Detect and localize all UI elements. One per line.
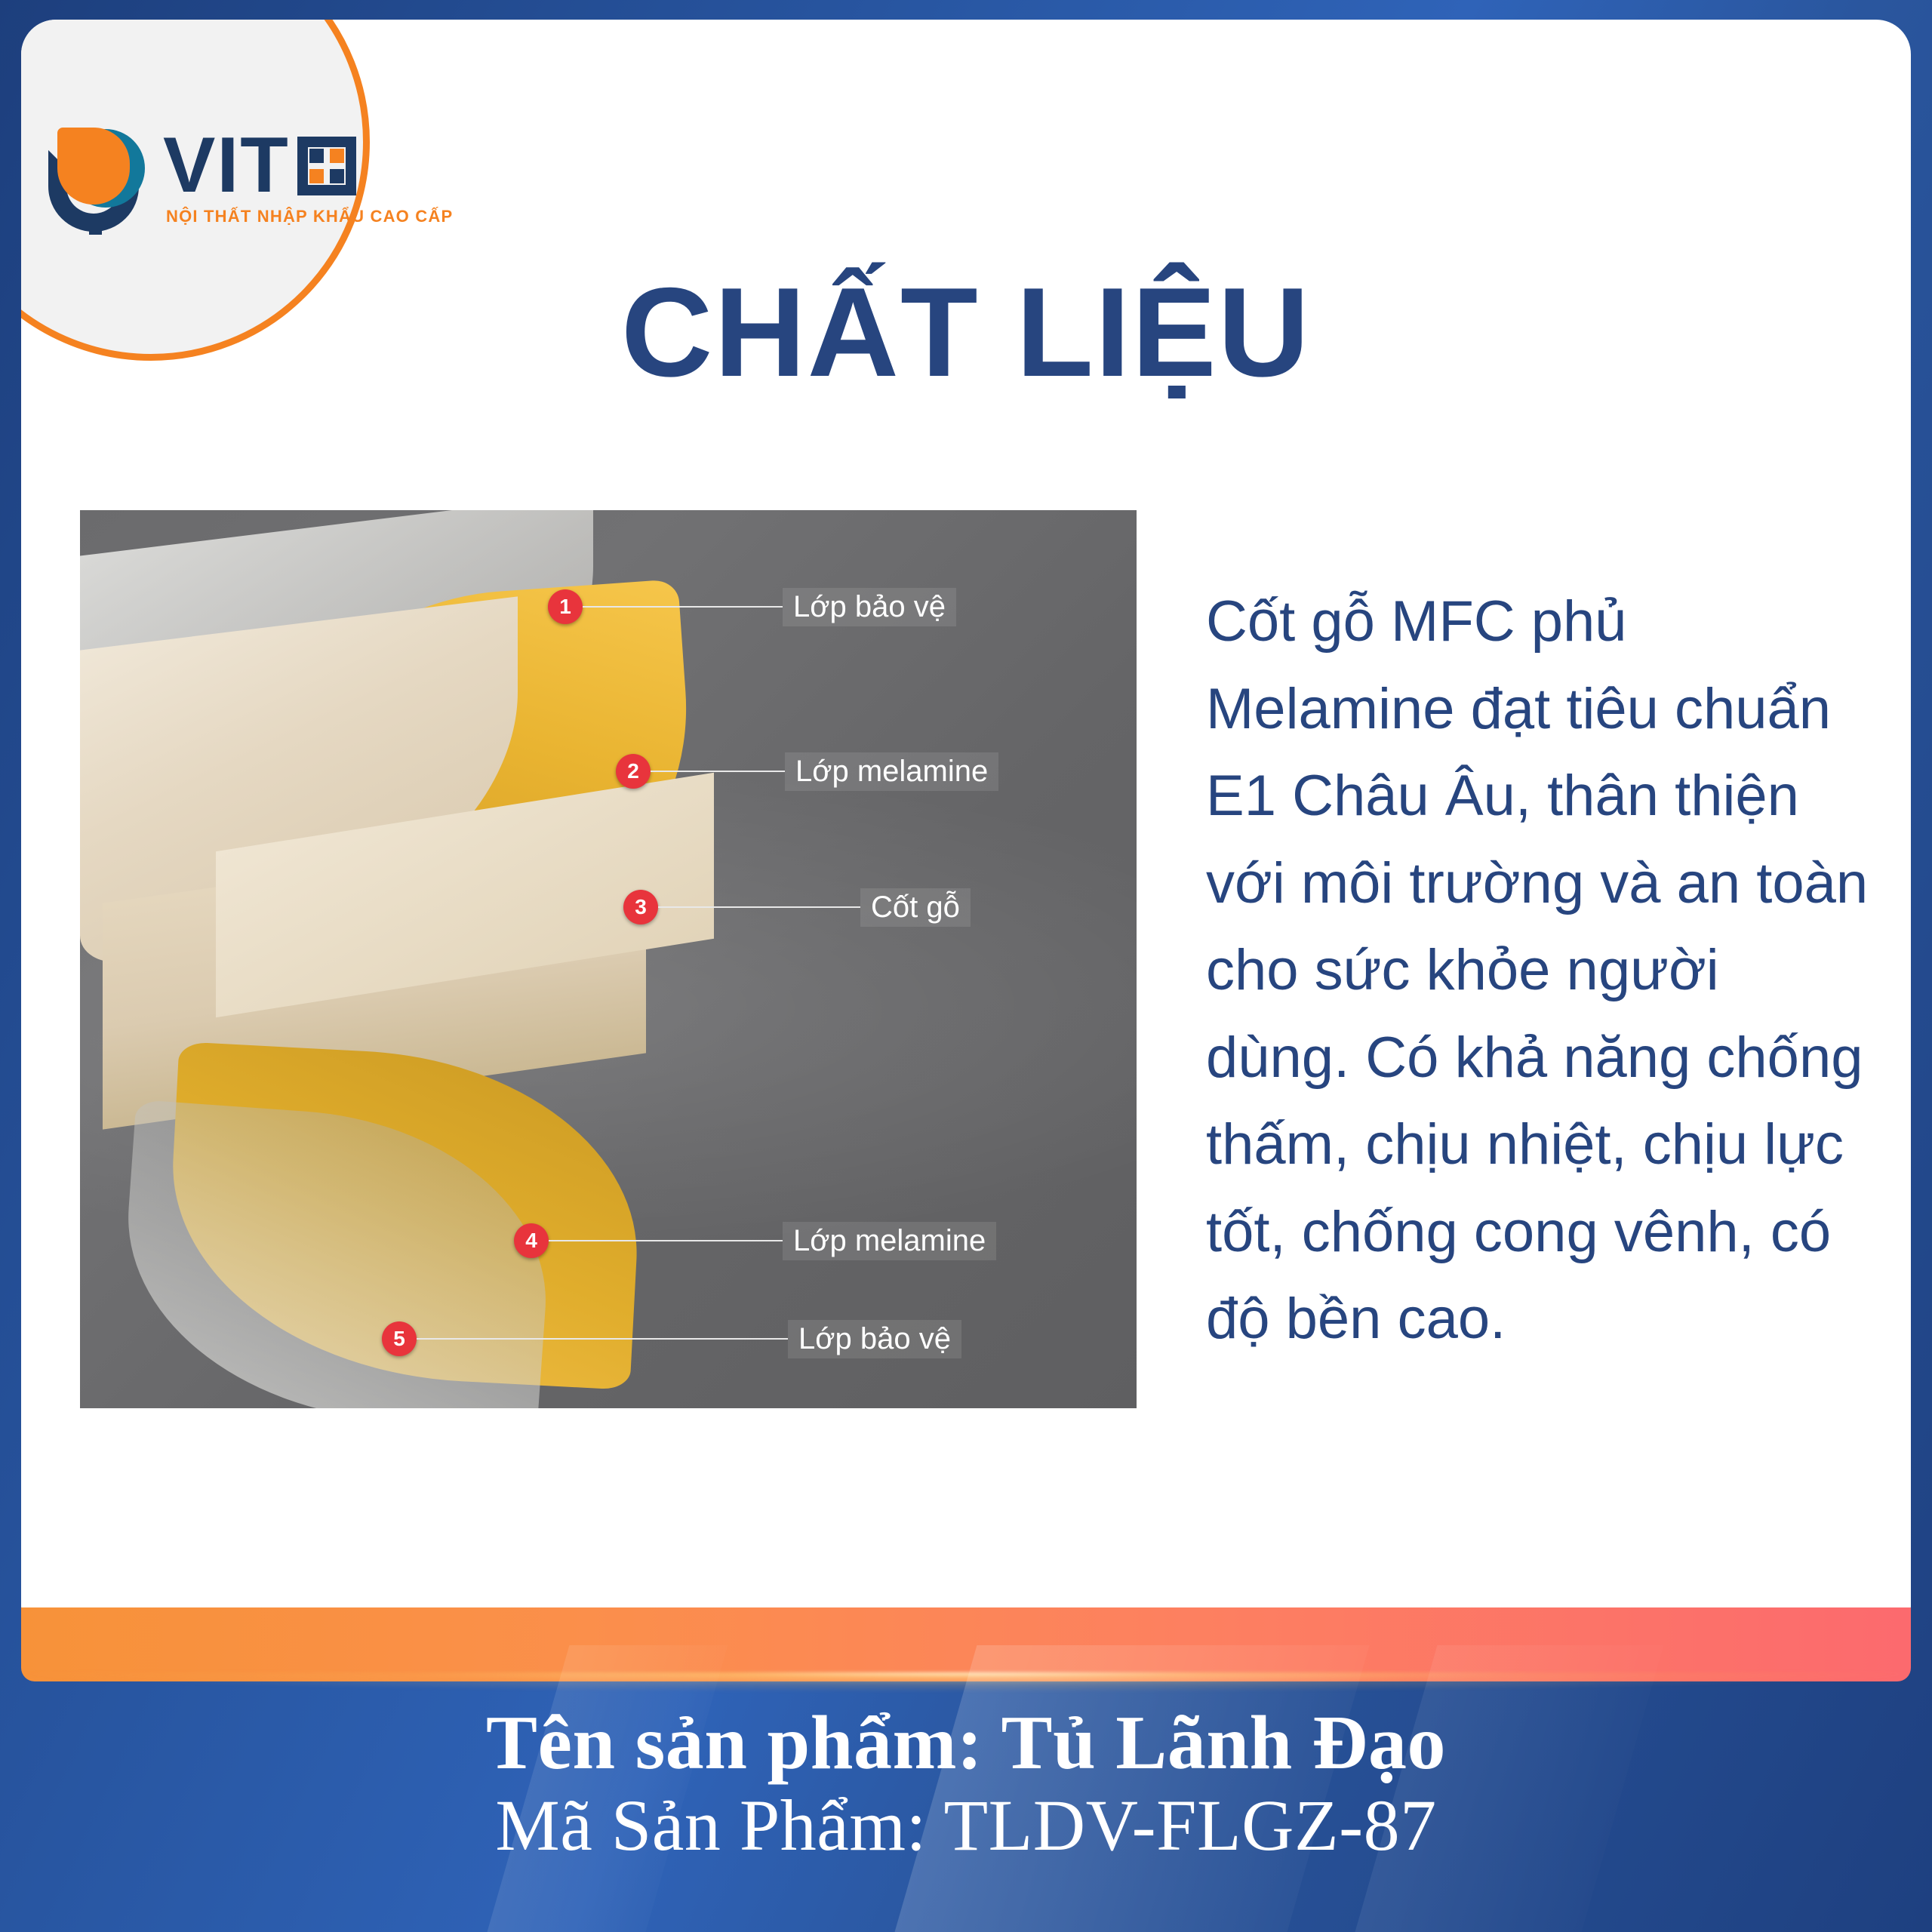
callout-label-3: Cốt gỗ (860, 888, 971, 927)
callout-2: 2 Lớp melamine (616, 750, 998, 792)
callout-leader-line-1 (583, 606, 783, 608)
callout-label-1: Lớp bảo vệ (783, 588, 956, 626)
brand-wordmark-letters: VIT (163, 130, 290, 202)
callout-number-2: 2 (616, 754, 651, 789)
callout-leader-line-3 (658, 906, 860, 908)
callout-number-5: 5 (382, 1321, 417, 1356)
callout-4: 4 Lớp melamine (514, 1220, 996, 1262)
brand-tagline: NỘI THẤT NHẬP KHẨU CAO CẤP (166, 207, 453, 226)
callout-number-1: 1 (548, 589, 583, 624)
callout-label-5: Lớp bảo vệ (788, 1320, 961, 1358)
callout-leader-line-2 (651, 771, 785, 772)
callout-number-4: 4 (514, 1223, 549, 1258)
product-name: Tên sản phẩm: Tủ Lãnh Đạo (0, 1702, 1932, 1785)
callout-label-2: Lớp melamine (785, 752, 998, 791)
gradient-divider (21, 1607, 1911, 1681)
product-code: Mã Sản Phẩm: TLDV-FLGZ-87 (0, 1785, 1932, 1866)
divider-glow (21, 1672, 1911, 1692)
material-layer-photo: 1 Lớp bảo vệ 2 Lớp melamine 3 Cốt gỗ 4 L… (80, 510, 1137, 1408)
vito-leaf-logo-icon (44, 123, 151, 233)
brand-wordmark-block: VIT NỘI THẤT NHẬP KHẨU CAO CẤP (163, 130, 453, 226)
material-description: Cốt gỗ MFC phủ Melamine đạt tiêu chuẩn E… (1206, 578, 1870, 1363)
callout-5: 5 Lớp bảo vệ (382, 1318, 961, 1360)
callout-leader-line-5 (417, 1338, 788, 1340)
callout-3: 3 Cốt gỗ (623, 886, 971, 928)
callout-leader-line-4 (549, 1240, 783, 1241)
brand-logo[interactable]: VIT NỘI THẤT NHẬP KHẨU CAO CẤP (44, 110, 436, 246)
footer-block: Tên sản phẩm: Tủ Lãnh Đạo Mã Sản Phẩm: T… (0, 1702, 1932, 1866)
callout-number-3: 3 (623, 890, 658, 924)
slide-root: VIT NỘI THẤT NHẬP KHẨU CAO CẤP CHẤT LIỆU (0, 0, 1932, 1932)
brand-square-o-icon (297, 137, 356, 195)
brand-wordmark: VIT (163, 130, 453, 202)
content-card: VIT NỘI THẤT NHẬP KHẨU CAO CẤP CHẤT LIỆU (21, 20, 1911, 1641)
callout-label-4: Lớp melamine (783, 1222, 996, 1260)
callout-1: 1 Lớp bảo vệ (548, 586, 956, 628)
